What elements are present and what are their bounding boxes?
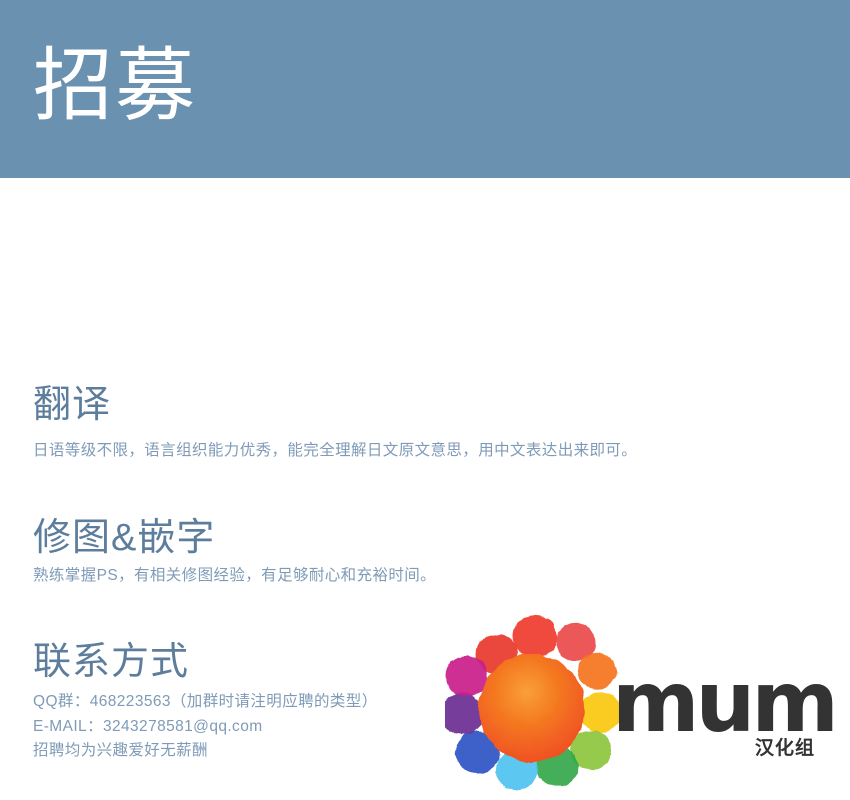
page-header-banner: 招募	[0, 0, 850, 178]
dot-orange-right-up	[578, 653, 616, 689]
section-image-editing: 修图&嵌字 熟练掌握PS，有相关修图经验，有足够耐心和充裕时间。	[33, 516, 436, 588]
dot-magenta-left-up	[446, 656, 488, 696]
section-image-editing-heading: 修图&嵌字	[33, 516, 436, 560]
logo-wordmark: mum	[612, 660, 835, 744]
section-translate: 翻译 日语等级不限，语言组织能力优秀，能完全理解日文原文意思，用中文表达出来即可…	[33, 383, 637, 463]
section-contact-heading: 联系方式	[33, 640, 378, 684]
section-translate-heading: 翻译	[33, 383, 637, 427]
logo-subtitle: 汉化组	[755, 738, 815, 760]
dot-purple-left	[445, 693, 484, 735]
group-logo: mum 汉化组	[440, 600, 840, 795]
contact-line-qq-group: QQ群：468223563（加群时请注明应聘的类型）	[33, 690, 378, 715]
contact-line-email: E-MAIL：3243278581@qq.com	[33, 715, 378, 740]
section-contact: 联系方式 QQ群：468223563（加群时请注明应聘的类型） E-MAIL：3…	[33, 640, 378, 764]
section-image-editing-body: 熟练掌握PS，有相关修图经验，有足够耐心和充裕时间。	[33, 564, 436, 588]
section-translate-body: 日语等级不限，语言组织能力优秀，能完全理解日文原文意思，用中文表达出来即可。	[33, 439, 637, 463]
page-title: 招募	[33, 36, 197, 136]
contact-line-unpaid-note: 招聘均为兴趣爱好无薪酬	[33, 739, 378, 764]
contact-lines: QQ群：468223563（加群时请注明应聘的类型） E-MAIL：324327…	[33, 690, 378, 764]
color-wheel-icon	[445, 610, 620, 785]
dot-red-top	[513, 615, 557, 657]
